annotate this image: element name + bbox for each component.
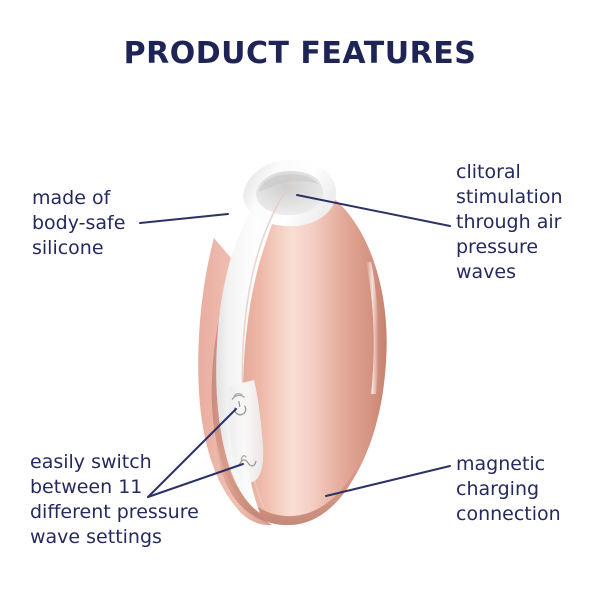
callout-line: silicone [32,236,125,261]
callout-magnetic-charging: magnetic charging connection [456,452,561,527]
product-head [243,160,336,226]
callout-line: waves [456,260,563,285]
callout-made-of-body-safe-silicone: made of body-safe silicone [32,186,125,261]
callout-line: easily switch [30,450,199,475]
leader-line-silicone [140,214,228,223]
callout-line: body-safe [32,211,125,236]
callout-line: between 11 [30,475,199,500]
callout-line: wave settings [30,525,199,550]
callout-line: pressure [456,235,563,260]
callout-pressure-wave-settings: easily switch between 11 different press… [30,450,199,550]
callout-line: connection [456,502,561,527]
callout-clitoral-stimulation: clitoral stimulation through air pressur… [456,160,563,285]
infographic-canvas: PRODUCT FEATURES [0,0,600,600]
callout-line: made of [32,186,125,211]
callout-line: stimulation [456,185,563,210]
callout-line: different pressure [30,500,199,525]
callout-line: magnetic [456,452,561,477]
callout-line: charging [456,477,561,502]
callout-line: through air [456,210,563,235]
callout-line: clitoral [456,160,563,185]
